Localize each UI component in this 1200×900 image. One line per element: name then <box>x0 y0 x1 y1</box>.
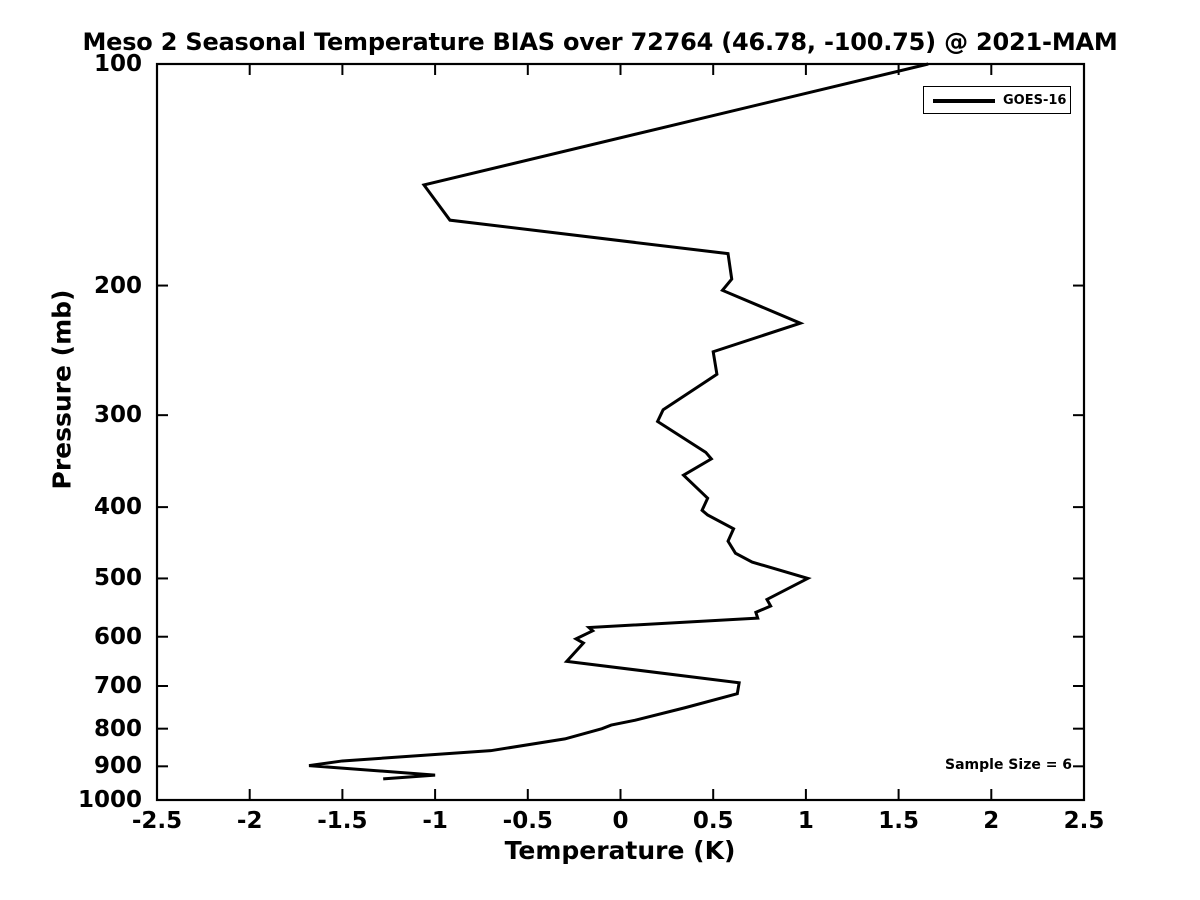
x-tick-label: 1.5 <box>878 808 919 834</box>
x-tick-label: 2 <box>983 808 999 834</box>
x-tick-label: -2.5 <box>132 808 182 834</box>
y-axis-label: Pressure (mb) <box>48 265 77 515</box>
plot-background <box>157 64 1084 800</box>
x-tick-label: -1 <box>422 808 448 834</box>
x-axis-label: Temperature (K) <box>0 836 1200 865</box>
x-tick-label: 0.5 <box>693 808 734 834</box>
x-tick-label: 0 <box>612 808 628 834</box>
y-tick-label: 900 <box>2 753 142 779</box>
legend: GOES-16 <box>923 86 1071 114</box>
y-tick-label: 100 <box>2 51 142 77</box>
x-tick-label: 1 <box>798 808 814 834</box>
y-tick-label: 600 <box>2 624 142 650</box>
legend-label-goes-16: GOES-16 <box>1003 93 1066 108</box>
x-tick-label: -0.5 <box>503 808 553 834</box>
legend-line-swatch <box>933 99 995 103</box>
sample-size-annotation: Sample Size = 6 <box>945 757 1072 773</box>
y-tick-label: 1000 <box>2 787 142 813</box>
x-tick-label: -2 <box>237 808 263 834</box>
x-tick-label: -1.5 <box>317 808 367 834</box>
y-tick-label: 700 <box>2 673 142 699</box>
y-tick-label: 500 <box>2 565 142 591</box>
x-tick-label: 2.5 <box>1064 808 1105 834</box>
y-tick-label: 800 <box>2 716 142 742</box>
chart-figure: Meso 2 Seasonal Temperature BIAS over 72… <box>0 0 1200 900</box>
